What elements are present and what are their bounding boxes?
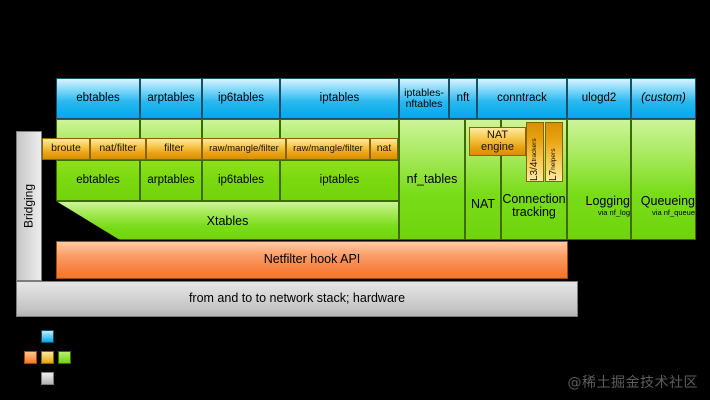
kernel-block-sublabel: via nf_log: [598, 209, 630, 217]
table-chip-label: raw/mangle/filter: [209, 144, 279, 154]
kernel-block-nf-tables[interactable]: nf_tables: [399, 119, 465, 240]
module-row-label: arptables: [147, 174, 194, 186]
table-chip-nat[interactable]: nat: [370, 138, 398, 160]
table-chip-raw-mangle-filter-ip6[interactable]: raw/mangle/filter: [202, 138, 286, 160]
table-chip-filter[interactable]: filter: [146, 138, 202, 160]
legend-swatch-hook-api: [24, 351, 37, 364]
legend-swatch-table-chip: [41, 351, 54, 364]
userspace-tool-arptables[interactable]: arptables: [140, 78, 202, 119]
userspace-tool-nft[interactable]: nft: [449, 78, 477, 119]
kernel-block-logging[interactable]: Logging via nf_log: [567, 119, 631, 240]
userspace-tool-label: nft: [457, 92, 470, 104]
kernel-block-label: Logging: [586, 195, 631, 208]
table-chip-label: nat: [377, 143, 392, 154]
userspace-tool-iptables[interactable]: iptables: [280, 78, 399, 119]
userspace-tool-label: (custom): [641, 92, 686, 104]
netfilter-hook-api-label: Netfilter hook API: [264, 253, 361, 266]
legend-swatch-network-stack: [41, 372, 54, 385]
netfilter-hook-api-band[interactable]: Netfilter hook API: [56, 241, 568, 279]
watermark: @稀土掘金技术社区: [568, 372, 699, 392]
userspace-tool-label: conntrack: [497, 92, 547, 104]
kernel-block-label: NAT: [471, 198, 495, 211]
xtables-band[interactable]: Xtables: [56, 201, 399, 240]
bridging-label: Bridging: [23, 184, 36, 228]
bridging-sidebar: Bridging: [16, 131, 42, 281]
module-row-arptables[interactable]: arptables: [140, 160, 202, 201]
userspace-tool-label: arptables: [147, 92, 194, 104]
l3-l4-trackers-label: L3/4trackers: [530, 138, 541, 181]
l7-helpers-chip[interactable]: L7helpers: [545, 122, 563, 182]
userspace-tool-conntrack[interactable]: conntrack: [477, 78, 567, 119]
table-chip-broute[interactable]: broute: [42, 138, 90, 160]
kernel-block-label: Queueing: [641, 195, 695, 208]
table-chip-raw-mangle-filter-ip4[interactable]: raw/mangle/filter: [286, 138, 370, 160]
userspace-tool-ip6tables[interactable]: ip6tables: [202, 78, 280, 119]
module-row-label: ip6tables: [218, 174, 264, 186]
module-row-ip6tables[interactable]: ip6tables: [202, 160, 280, 201]
module-row-label: iptables: [320, 174, 360, 186]
diagram-canvas: ebtables arptables ip6tables iptables ip…: [0, 0, 710, 400]
table-chip-label: nat/filter: [99, 143, 136, 154]
userspace-tool-label: ebtables: [76, 92, 119, 104]
userspace-tool-label: iptables- nftables: [404, 88, 444, 109]
network-stack-label: from and to to network stack; hardware: [189, 292, 405, 305]
userspace-tool-iptables-nftables[interactable]: iptables- nftables: [399, 78, 449, 119]
kernel-block-label: nf_tables: [407, 173, 458, 186]
nat-engine-chip[interactable]: NAT engine: [469, 127, 526, 156]
l7-helpers-label: L7helpers: [549, 149, 560, 181]
table-chip-label: raw/mangle/filter: [293, 144, 363, 154]
kernel-block-queueing[interactable]: Queueing via nf_queue: [631, 119, 696, 240]
userspace-tool-label: ip6tables: [218, 92, 264, 104]
module-row-ebtables[interactable]: ebtables: [56, 160, 140, 201]
userspace-tool-label: ulogd2: [582, 92, 617, 104]
userspace-tool-ulogd2[interactable]: ulogd2: [567, 78, 631, 119]
l3-l4-trackers-chip[interactable]: L3/4trackers: [526, 122, 544, 182]
legend-swatch-userspace-tool: [41, 330, 54, 343]
userspace-tool-label: iptables: [320, 92, 360, 104]
network-stack-band: from and to to network stack; hardware: [16, 281, 578, 317]
kernel-block-sublabel: via nf_queue: [652, 209, 695, 217]
table-chip-label: broute: [51, 143, 81, 154]
nat-engine-label: NAT engine: [481, 130, 514, 153]
userspace-tool-ebtables[interactable]: ebtables: [56, 78, 140, 119]
kernel-block-label: Connection tracking: [502, 193, 565, 219]
table-chip-label: filter: [164, 143, 184, 154]
table-chip-nat-filter[interactable]: nat/filter: [90, 138, 146, 160]
module-row-iptables[interactable]: iptables: [280, 160, 399, 201]
userspace-tool-custom[interactable]: (custom): [631, 78, 696, 119]
module-row-label: ebtables: [76, 174, 119, 186]
legend-swatch-kernel-block: [58, 351, 71, 364]
xtables-band-label: Xtables: [207, 214, 249, 228]
